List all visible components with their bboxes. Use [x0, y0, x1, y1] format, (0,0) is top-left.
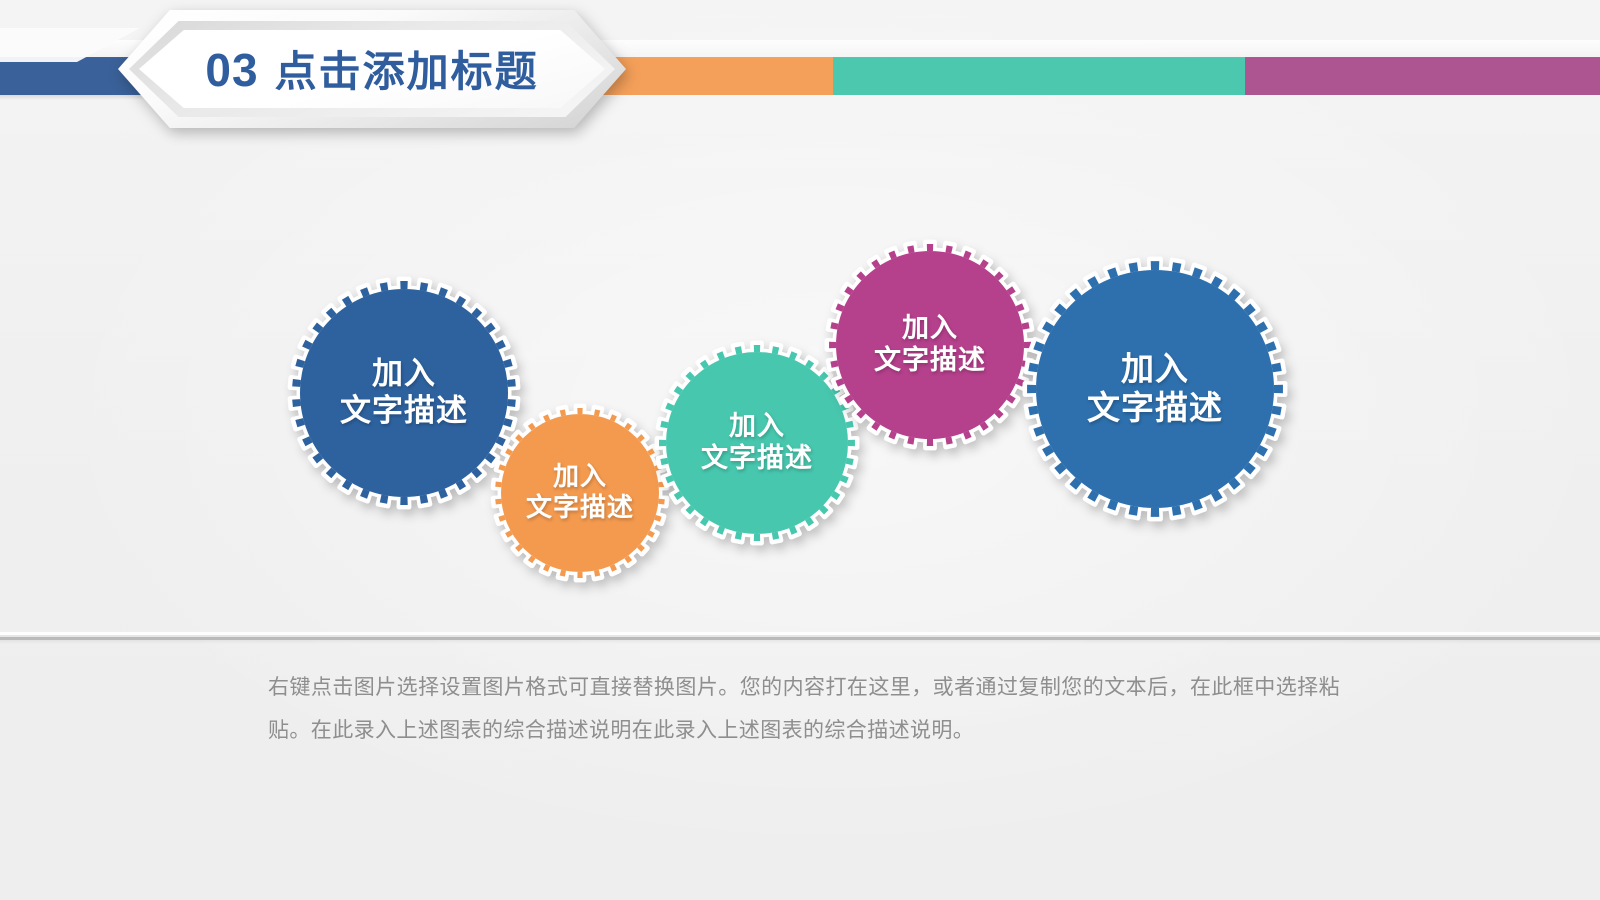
slide-canvas: 03 点击添加标题 加入 文字描述加入 文字描述加入 文字描述加入 文字描述加入…: [0, 0, 1600, 900]
gear-circle-4[interactable]: 加入 文字描述: [817, 232, 1043, 458]
section-divider: [0, 632, 1600, 642]
gear-circle-5[interactable]: 加入 文字描述: [1015, 249, 1295, 529]
gear-diagram: 加入 文字描述加入 文字描述加入 文字描述加入 文字描述加入 文字描述: [0, 0, 1600, 900]
caption-text: 右键点击图片选择设置图片格式可直接替换图片。您的内容打在这里，或者通过复制您的文…: [268, 666, 1340, 752]
